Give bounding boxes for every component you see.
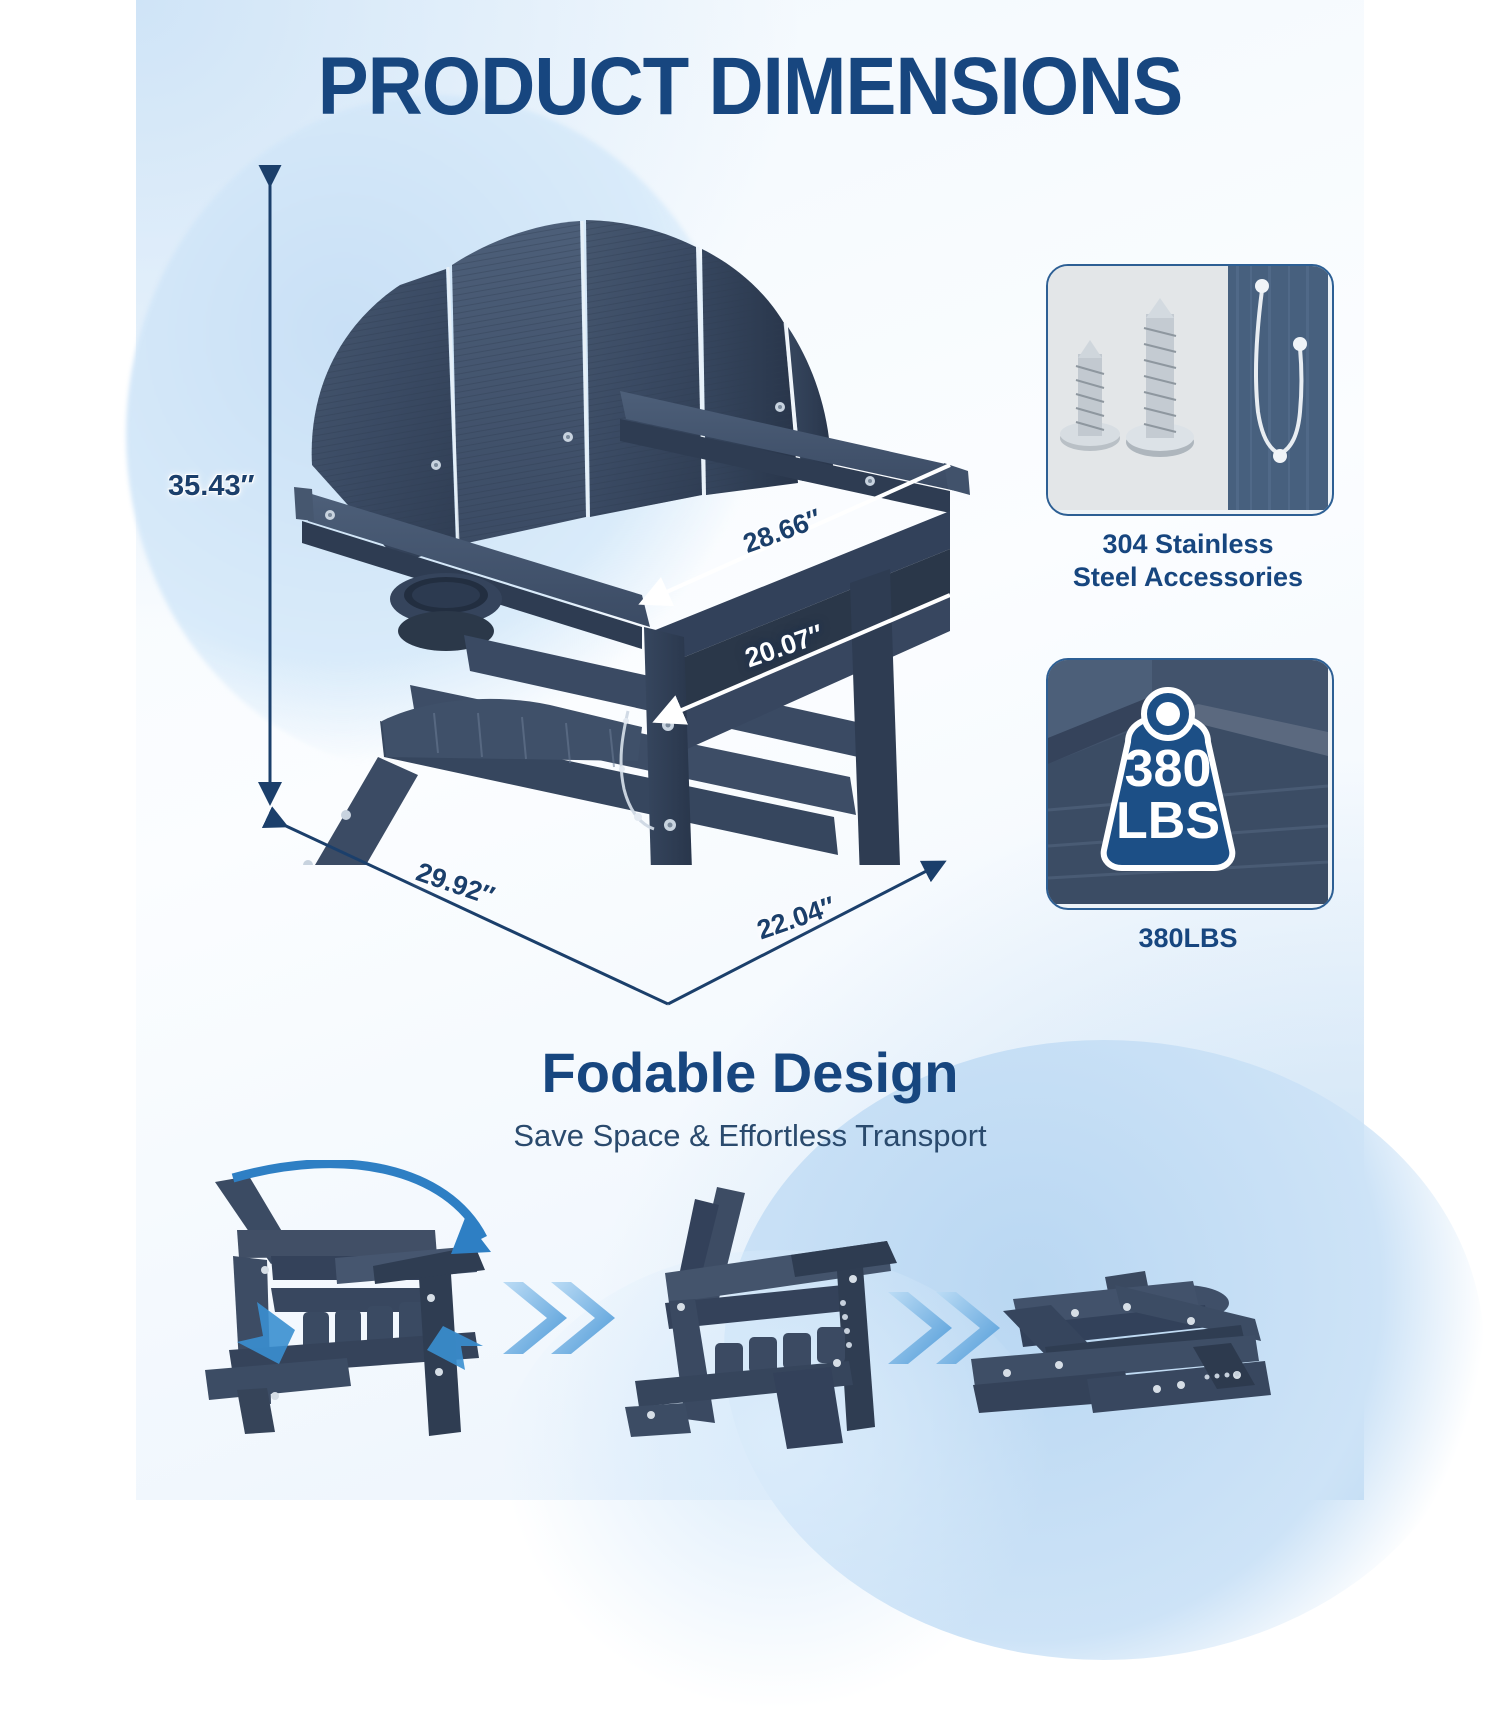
chain-anchor-mid bbox=[1293, 337, 1307, 351]
fold-step-1-illustration bbox=[175, 1160, 545, 1460]
foldable-section-title: Fodable Design bbox=[0, 1040, 1500, 1105]
hero-chair-illustration bbox=[250, 165, 970, 865]
fold-step-3 bbox=[955, 1255, 1285, 1445]
fold-step-3-illustration bbox=[955, 1255, 1285, 1445]
width-dim-line bbox=[668, 862, 944, 1004]
seat-dim-line bbox=[656, 595, 950, 721]
weight-capacity-icon: 380 LBS bbox=[1048, 660, 1328, 904]
fold-arrow-1 bbox=[495, 1268, 625, 1368]
chair-half-folded bbox=[625, 1187, 897, 1449]
foldable-section-subtitle: Save Space & Effortless Transport bbox=[0, 1118, 1500, 1154]
depth-dim-line bbox=[286, 826, 668, 1004]
feature-caption-stainless-line2: Steel Accessories bbox=[1038, 561, 1338, 594]
dimension-label-height: 35.43″ bbox=[168, 470, 254, 503]
chain-anchor-top bbox=[1255, 279, 1269, 293]
feature-caption-stainless: 304 Stainless Steel Accessories bbox=[1038, 528, 1338, 594]
feature-caption-weight: 380LBS bbox=[1038, 922, 1338, 955]
chair-unfolded bbox=[205, 1176, 485, 1436]
screws-and-chain-icon bbox=[1048, 266, 1328, 510]
chain-anchor-bottom bbox=[1273, 449, 1287, 463]
feature-card-stainless-accessories[interactable] bbox=[1046, 264, 1334, 516]
weight-badge-number: 380 bbox=[1125, 740, 1212, 798]
fold-step-1 bbox=[175, 1160, 545, 1460]
double-chevron-right-icon bbox=[495, 1268, 625, 1368]
dimension-arrows-svg bbox=[250, 165, 970, 865]
weight-badge-unit: LBS bbox=[1116, 792, 1220, 850]
feature-caption-stainless-line1: 304 Stainless bbox=[1038, 528, 1338, 561]
page-title: PRODUCT DIMENSIONS bbox=[53, 44, 1448, 130]
feature-card-weight-capacity[interactable]: 380 LBS bbox=[1046, 658, 1334, 910]
chair-fully-folded bbox=[971, 1271, 1271, 1413]
infographic-canvas: PRODUCT DIMENSIONS bbox=[0, 0, 1500, 1500]
